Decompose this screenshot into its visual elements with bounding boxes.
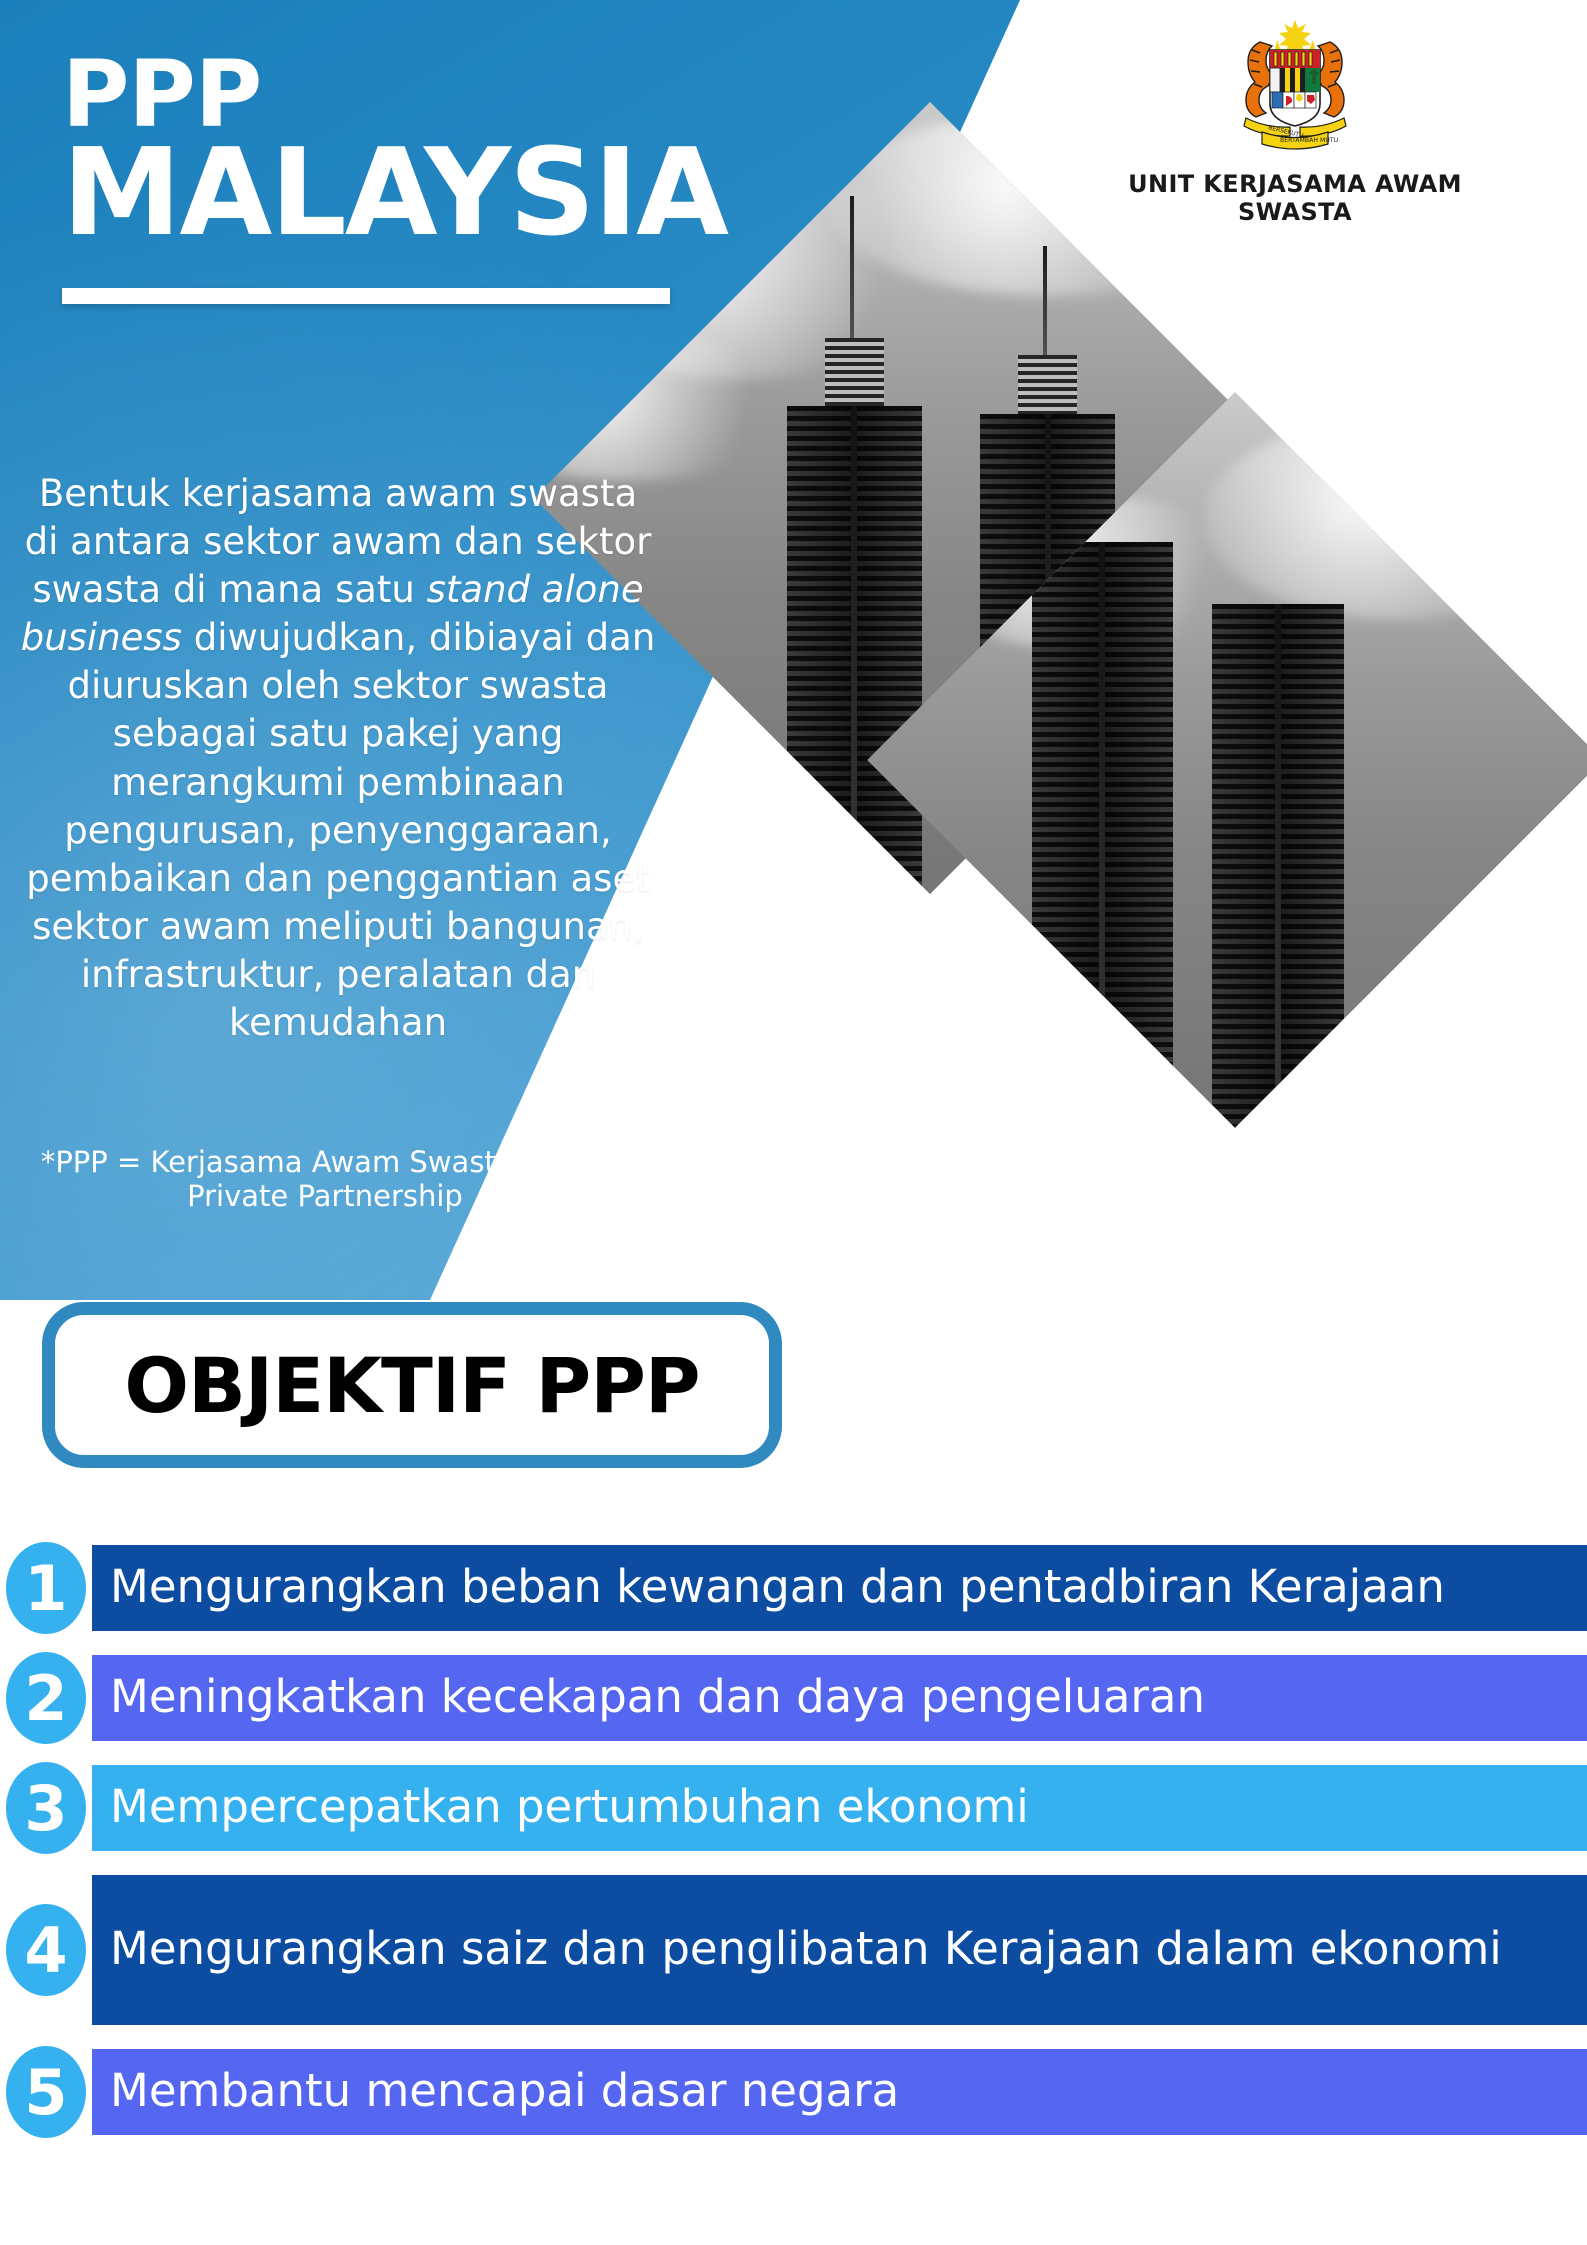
objective-text-bar: Mengurangkan beban kewangan dan pentadbi… (92, 1545, 1587, 1631)
title-line-malaysia: MALAYSIA (62, 134, 762, 254)
title-underline-rule (62, 288, 670, 304)
objective-text-bar: Meningkatkan kecekapan dan daya pengelua… (92, 1655, 1587, 1741)
cloud-shape (1204, 417, 1587, 620)
masthead: PPP MALAYSIA (62, 50, 762, 304)
tower-left (1032, 542, 1172, 1128)
objective-text-bar: Membantu mencapai dasar negara (92, 2049, 1587, 2135)
blurb-text-part2: diwujudkan, dibiayai dan diuruskan oleh … (26, 616, 655, 1044)
ppp-footnote: *PPP = Kerjasama Awam Swasta/Public Priv… (0, 1145, 650, 1213)
tower-spire (1043, 246, 1047, 364)
objective-row: 1Mengurangkan beban kewangan dan pentadb… (0, 1545, 1587, 1631)
crest-block: BERSEKUTU BERTAMBAH MUTU UNIT KERJASAMA … (1075, 14, 1515, 226)
tower-left (787, 406, 921, 894)
objective-row: 5Membantu mencapai dasar negara (0, 2049, 1587, 2135)
objective-number-badge: 4 (6, 1904, 86, 1996)
definition-paragraph: Bentuk kerjasama awam swasta di antara s… (18, 470, 658, 1047)
crest-caption: UNIT KERJASAMA AWAM SWASTA (1075, 170, 1515, 226)
hero-section: BERSEKUTU BERTAMBAH MUTU UNIT KERJASAMA … (0, 0, 1587, 1300)
objective-text-bar: Mengurangkan saiz dan penglibatan Keraja… (92, 1875, 1587, 2025)
objektif-ppp-heading: OBJEKTIF PPP (124, 1341, 699, 1430)
objective-number-badge: 2 (6, 1652, 86, 1744)
objective-row: 2Meningkatkan kecekapan dan daya pengelu… (0, 1655, 1587, 1741)
tower-right (1212, 604, 1345, 1128)
objective-number-badge: 3 (6, 1762, 86, 1854)
tower-spire (850, 196, 854, 347)
objective-text-bar: Mempercepatkan pertumbuhan ekonomi (92, 1765, 1587, 1851)
objective-row: 3Mempercepatkan pertumbuhan ekonomi (0, 1765, 1587, 1851)
objektif-ppp-badge: OBJEKTIF PPP (42, 1302, 782, 1468)
objective-row: 4Mengurangkan saiz dan penglibatan Keraj… (0, 1875, 1587, 2025)
tower-crown (825, 338, 884, 414)
tower-crown (1018, 355, 1077, 422)
objective-number-badge: 1 (6, 1542, 86, 1634)
malaysia-coat-of-arms-icon: BERSEKUTU BERTAMBAH MUTU (1190, 14, 1400, 164)
objective-number-badge: 5 (6, 2046, 86, 2138)
objectives-list: 1Mengurangkan beban kewangan dan pentadb… (0, 1545, 1587, 2159)
motto-bottom-text: BERTAMBAH MUTU (1280, 137, 1338, 144)
